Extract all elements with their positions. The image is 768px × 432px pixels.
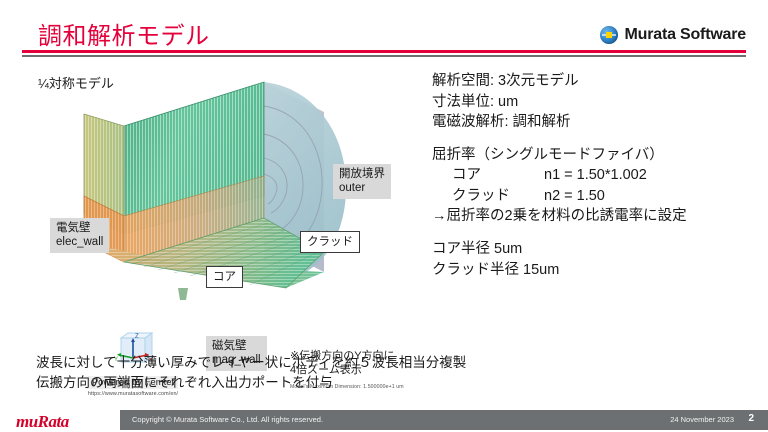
callout-mag-wall-line1: 磁気壁 (212, 339, 261, 353)
spec-core-index-row: コア n1 = 1.50*1.002 (432, 165, 762, 186)
spec-solver: 電磁波解析: 調和解析 (432, 112, 762, 133)
header-rule-gray (22, 55, 746, 57)
spec-clad-radius: クラッド半径 15um (432, 260, 762, 281)
spacer-1 (432, 133, 762, 145)
note-line-2: 伝搬方向の両端面にそれぞれ入出力ポートを付与 (36, 373, 466, 393)
callout-outer-line1: 開放境界 (339, 167, 385, 181)
model-3d-render (28, 66, 418, 336)
globe-icon (600, 26, 618, 44)
spec-permittivity-note: →屈折率の2乗を材料の比誘電率に設定 (432, 206, 762, 227)
spec-clad-key: クラッド (452, 186, 544, 207)
footer-copyright: Copyright © Murata Software Co., Ltd. Al… (132, 415, 323, 424)
brand-name: Murata Software (625, 26, 746, 44)
spec-column: 解析空間: 3次元モデル 寸法単位: um 電磁波解析: 調和解析 屈折率（シン… (432, 71, 762, 280)
callout-clad: クラッド (300, 231, 360, 253)
footer-date: 24 November 2023 (670, 415, 734, 424)
callout-elec-wall-line2: elec_wall (56, 235, 103, 249)
spec-refractive-heading: 屈折率（シングルモードファイバ） (432, 145, 762, 166)
spec-unit: 寸法単位: um (432, 92, 762, 113)
bottom-notes: 波長に対して十分薄い厚みでレイヤー状にボディを約５波長相当分複製 伝搬方向の両端… (36, 353, 466, 394)
footer: muRata Copyright © Murata Software Co., … (0, 408, 768, 432)
spec-clad-value: n2 = 1.50 (544, 186, 605, 207)
spec-clad-index-row: クラッド n2 = 1.50 (432, 186, 762, 207)
spec-analysis-space: 解析空間: 3次元モデル (432, 71, 762, 92)
model-viewport: 電気壁 elec_wall 開放境界 outer クラッド コア 磁気壁 mag… (28, 66, 418, 336)
callout-elec-wall-line1: 電気壁 (56, 221, 103, 235)
page-title: 調和解析モデル (38, 16, 210, 51)
murata-wordmark: muRata (16, 412, 69, 432)
footer-page-number: 2 (748, 413, 754, 424)
spec-core-key: コア (452, 165, 544, 186)
svg-text:Z: Z (135, 334, 139, 340)
header-rule-red (22, 50, 746, 53)
callout-core: コア (206, 266, 243, 288)
model-nub (178, 288, 188, 300)
spec-core-radius: コア半径 5um (432, 239, 762, 260)
spacer-2 (432, 227, 762, 239)
spec-core-value: n1 = 1.50*1.002 (544, 165, 647, 186)
callout-elec-wall: 電気壁 elec_wall (50, 218, 109, 253)
note-line-1: 波長に対して十分薄い厚みでレイヤー状にボディを約５波長相当分複製 (36, 353, 466, 373)
brand-logo: Murata Software (600, 26, 746, 44)
callout-outer-boundary: 開放境界 outer (333, 164, 391, 199)
callout-outer-line2: outer (339, 181, 385, 195)
